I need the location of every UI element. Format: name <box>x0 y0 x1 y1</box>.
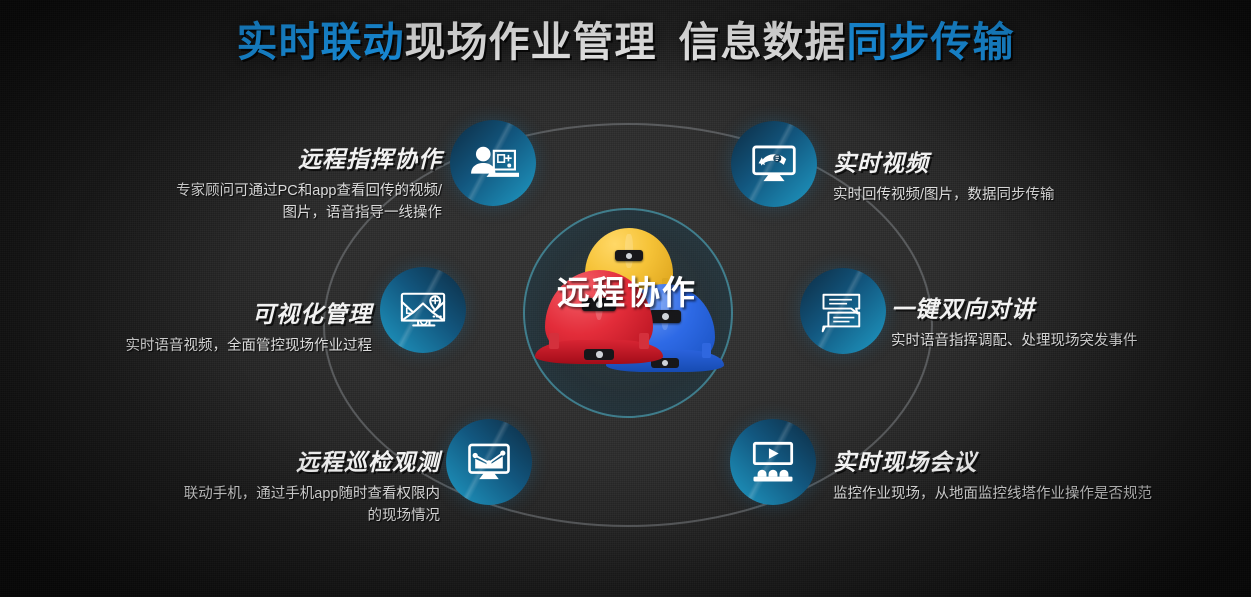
node-remote-inspection-text: 远程巡检观测 联动手机，通过手机app随时查看权限内 的现场情况 <box>110 443 440 527</box>
node-remote-command-text: 远程指挥协作 专家顾问可通过PC和app查看回传的视频/ 图片，语音指导一线操作 <box>120 140 442 224</box>
center-label: 远程协作 <box>521 266 733 314</box>
node-visual-management-text: 可视化管理 实时语音视频，全面管控现场作业过程 <box>60 295 372 357</box>
node-heading: 远程巡检观测 <box>110 443 440 477</box>
node-heading: 一键双向对讲 <box>891 290 1251 324</box>
chat-bubbles-icon[interactable] <box>800 268 886 354</box>
title-segment-2: 现场作业管理 <box>405 19 657 65</box>
page-title: 实时联动现场作业管理信息数据同步传输 <box>0 8 1251 68</box>
node-heading: 实时视频 <box>833 144 1223 178</box>
node-heading: 可视化管理 <box>60 295 372 329</box>
node-description: 监控作业现场，从地面监控线塔作业操作是否规范 <box>833 483 1251 505</box>
node-onsite-meeting-text: 实时现场会议 监控作业现场，从地面监控线塔作业操作是否规范 <box>833 443 1251 505</box>
monitor-video-icon[interactable] <box>731 121 817 207</box>
title-segment-3: 信息数据 <box>679 19 847 65</box>
infographic-canvas: 实时联动现场作业管理信息数据同步传输 远程协作 <box>0 0 1251 597</box>
title-segment-1: 实时联动 <box>237 19 405 65</box>
node-description: 实时语音视频，全面管控现场作业过程 <box>60 335 372 357</box>
node-description: 实时回传视频/图片，数据同步传输 <box>833 184 1223 206</box>
node-realtime-video-text: 实时视频 实时回传视频/图片，数据同步传输 <box>833 144 1223 206</box>
center-hub: 远程协作 <box>537 222 717 402</box>
presentation-audience-icon[interactable] <box>730 419 816 505</box>
title-segment-4: 同步传输 <box>847 19 1015 65</box>
node-heading: 实时现场会议 <box>833 443 1251 477</box>
monitor-chart-icon[interactable] <box>446 419 532 505</box>
node-description: 实时语音指挥调配、处理现场突发事件 <box>891 330 1251 352</box>
node-heading: 远程指挥协作 <box>120 140 442 174</box>
monitor-map-pin-icon[interactable] <box>380 267 466 353</box>
node-two-way-intercom-text: 一键双向对讲 实时语音指挥调配、处理现场突发事件 <box>891 290 1251 352</box>
node-description: 联动手机，通过手机app随时查看权限内 的现场情况 <box>110 483 440 527</box>
person-laptop-icon[interactable] <box>450 120 536 206</box>
node-description: 专家顾问可通过PC和app查看回传的视频/ 图片，语音指导一线操作 <box>120 180 442 224</box>
